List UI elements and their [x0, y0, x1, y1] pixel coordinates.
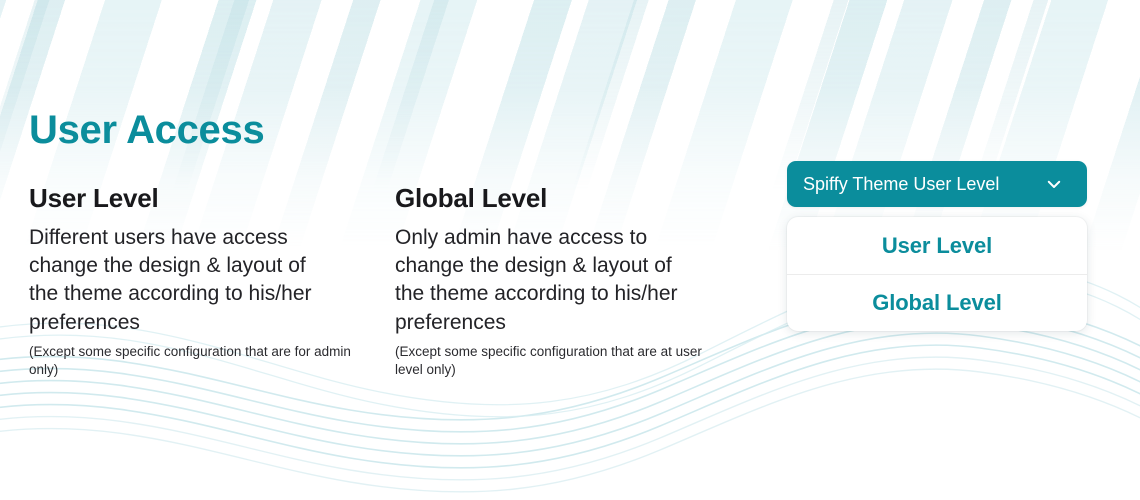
column-global-level: Global Level Only admin have access to c…: [395, 184, 743, 379]
slide-canvas: User Access User Level Different users h…: [0, 0, 1140, 500]
column-note-text: (Except some specific configuration that…: [395, 343, 725, 379]
column-body-text: Different users have access change the d…: [29, 224, 339, 337]
dropdown-option-user-level[interactable]: User Level: [787, 217, 1087, 274]
column-heading: Global Level: [395, 184, 743, 214]
dropdown-toggle-button[interactable]: Spiffy Theme User Level: [787, 161, 1087, 207]
column-user-level: User Level Different users have access c…: [29, 184, 377, 379]
dropdown-options-menu: User Level Global Level: [787, 217, 1087, 331]
column-heading: User Level: [29, 184, 377, 214]
column-body-text: Only admin have access to change the des…: [395, 224, 705, 337]
column-note-text: (Except some specific configuration that…: [29, 343, 359, 379]
dropdown-option-global-level[interactable]: Global Level: [787, 274, 1087, 331]
user-level-dropdown: Spiffy Theme User Level User Level Globa…: [787, 161, 1087, 207]
dropdown-selected-value: Spiffy Theme User Level: [803, 174, 1045, 195]
page-title: User Access: [29, 108, 264, 152]
chevron-down-icon: [1045, 175, 1063, 193]
